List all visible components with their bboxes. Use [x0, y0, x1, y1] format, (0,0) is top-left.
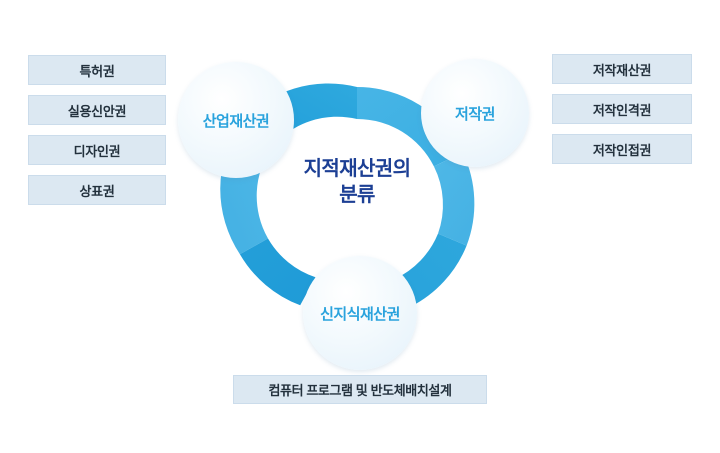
chip-utility-model-right[interactable]: 실용신안권	[28, 95, 166, 125]
infographic-canvas: 산업재산권 저작권 신지식재산권 지적재산권의 분류 특허권 실용신안권 디자인…	[0, 0, 720, 453]
chip-patent-right[interactable]: 특허권	[28, 55, 166, 85]
center-title-line-1: 지적재산권의	[277, 157, 437, 183]
node-industrial-property-label: 산업재산권	[203, 110, 270, 131]
node-copyright[interactable]: 저작권	[421, 59, 529, 167]
chip-neighboring-copyright-label: 저작인접권	[593, 140, 651, 159]
ring-segment-left-lower	[240, 239, 316, 306]
node-copyright-label: 저작권	[455, 103, 495, 124]
node-new-knowledge-property-label: 신지식재산권	[320, 303, 400, 324]
caption-new-knowledge-scope-label: 컴퓨터 프로그램 및 반도체배치설계	[268, 380, 451, 399]
chip-patent-right-label: 특허권	[80, 61, 115, 80]
chip-utility-model-right-label: 실용신안권	[68, 101, 126, 120]
chip-trademark-right-label: 상표권	[80, 181, 115, 200]
chip-design-right[interactable]: 디자인권	[28, 135, 166, 165]
chip-economic-copyright[interactable]: 저작재산권	[552, 54, 692, 84]
chip-moral-copyright[interactable]: 저작인격권	[552, 94, 692, 124]
chip-neighboring-copyright[interactable]: 저작인접권	[552, 134, 692, 164]
chip-design-right-label: 디자인권	[74, 141, 121, 160]
diagram-center-title: 지적재산권의 분류	[277, 157, 437, 208]
node-new-knowledge-property[interactable]: 신지식재산권	[303, 256, 417, 370]
chip-trademark-right[interactable]: 상표권	[28, 175, 166, 205]
chip-moral-copyright-label: 저작인격권	[593, 100, 651, 119]
chip-economic-copyright-label: 저작재산권	[593, 60, 651, 79]
caption-new-knowledge-scope[interactable]: 컴퓨터 프로그램 및 반도체배치설계	[233, 375, 487, 404]
center-title-line-2: 분류	[277, 183, 437, 209]
